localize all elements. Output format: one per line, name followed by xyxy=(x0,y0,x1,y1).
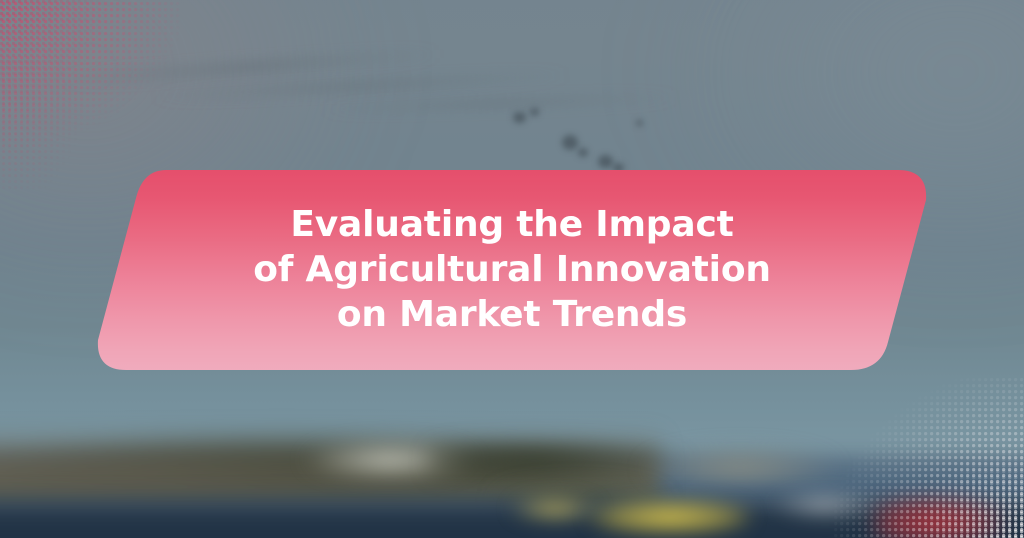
background-yellow-boat xyxy=(590,500,750,534)
background-yellow-boat-small xyxy=(510,496,600,522)
slide-canvas: Evaluating the Impact of Agricultural In… xyxy=(0,0,1024,538)
background-bird-5 xyxy=(598,155,613,168)
title-line-2: of Agricultural Innovation xyxy=(253,247,771,292)
title-card: Evaluating the Impact of Agricultural In… xyxy=(88,170,936,370)
background-bird-4 xyxy=(578,148,588,157)
title-line-1: Evaluating the Impact xyxy=(290,202,733,247)
background-bird-2 xyxy=(530,108,539,116)
background-bird-3 xyxy=(562,135,578,150)
background-bird-1 xyxy=(513,112,526,123)
halftone-dots-bottom-right-dense xyxy=(900,434,1024,538)
background-bird-7 xyxy=(636,120,643,126)
title-text-block: Evaluating the Impact of Agricultural In… xyxy=(88,170,936,370)
title-line-3: on Market Trends xyxy=(337,292,687,337)
